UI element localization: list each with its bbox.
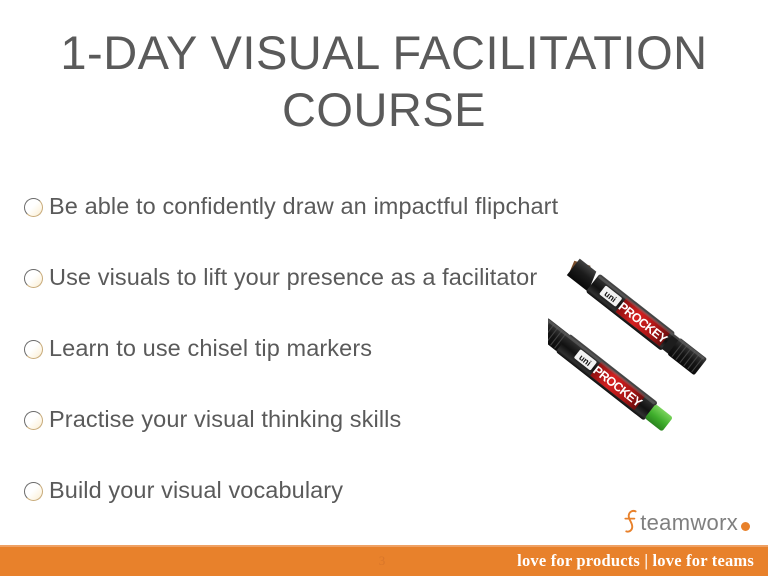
open-circle-bullet-icon [24, 198, 43, 217]
open-circle-bullet-icon [24, 411, 43, 430]
slide-title: 1-DAY VISUAL FACILITATION COURSE [40, 24, 728, 139]
list-item-label: Practise your visual thinking skills [49, 407, 401, 433]
list-item-label: Use visuals to lift your presence as a f… [49, 265, 537, 291]
open-circle-bullet-icon [24, 340, 43, 359]
list-item-label: Build your visual vocabulary [49, 478, 343, 504]
list-item: Build your visual vocabulary [24, 470, 624, 512]
list-item-label: Be able to confidently draw an impactful… [49, 194, 558, 220]
list-item: Practise your visual thinking skills [24, 399, 624, 441]
list-item-label: Learn to use chisel tip markers [49, 336, 372, 362]
logo-dot-icon [741, 522, 750, 531]
footer-tagline: love for products | love for teams [517, 545, 754, 576]
objectives-list: Be able to confidently draw an impactful… [24, 186, 624, 512]
teamworx-logo: teamworx [623, 508, 750, 538]
list-item: Be able to confidently draw an impactful… [24, 186, 624, 228]
logo-wordmark: teamworx [640, 512, 738, 534]
footer-bar: 3 love for products | love for teams [0, 545, 768, 576]
list-item: Learn to use chisel tip markers [24, 328, 624, 370]
list-item: Use visuals to lift your presence as a f… [24, 257, 624, 299]
teamworx-flourish-icon [623, 509, 639, 537]
presentation-slide: 1-DAY VISUAL FACILITATION COURSE Be able… [0, 0, 768, 576]
open-circle-bullet-icon [24, 482, 43, 501]
open-circle-bullet-icon [24, 269, 43, 288]
